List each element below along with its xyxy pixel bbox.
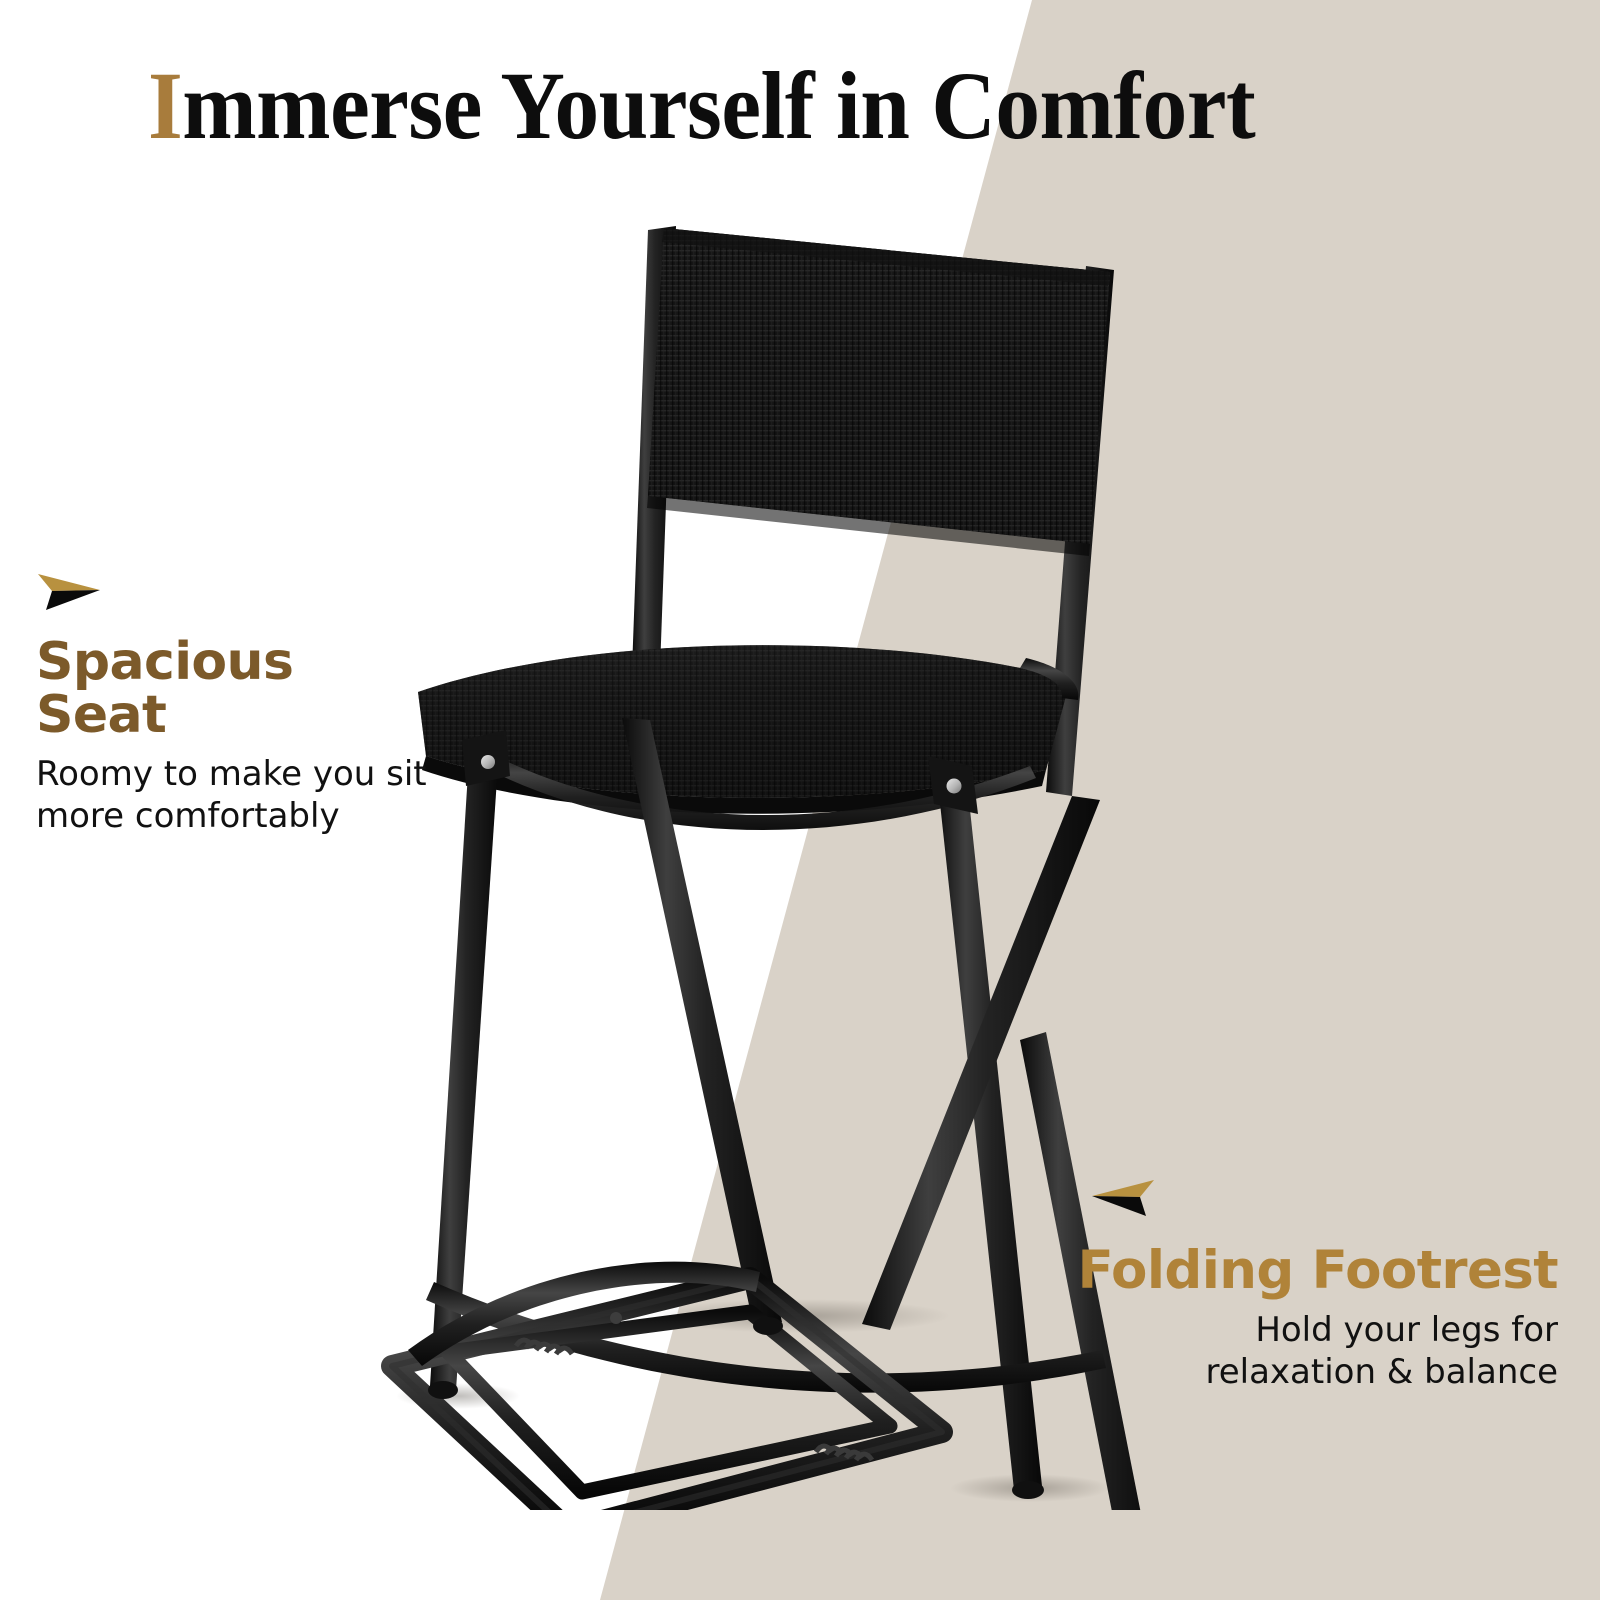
pivot-rivet-left bbox=[481, 755, 495, 769]
foot-cap-front-right bbox=[1012, 1481, 1044, 1499]
feature-callout-spacious-seat: Spacious Seat Roomy to make you sit more… bbox=[36, 566, 427, 837]
product-feature-banner: Immerse Yourself in Comfort bbox=[0, 0, 1600, 1600]
page-title: Immerse Yourself in Comfort bbox=[148, 58, 1255, 154]
feature-title: Folding Footrest bbox=[1078, 1244, 1558, 1298]
foot-cap-rear-left bbox=[753, 1317, 783, 1335]
pivot-rivet-right bbox=[947, 779, 962, 794]
feature-body: Hold your legs for relaxation & balance bbox=[1078, 1310, 1558, 1393]
headline-initial: I bbox=[148, 52, 182, 159]
foot-cap-front-left bbox=[428, 1381, 458, 1399]
feature-body: Roomy to make you sit more comfortably bbox=[36, 754, 427, 837]
arrow-container bbox=[1078, 1172, 1558, 1218]
feature-callout-folding-footrest: Folding Footrest Hold your legs for rela… bbox=[1078, 1172, 1558, 1393]
arrow-right-icon bbox=[36, 566, 102, 612]
footrest-rivet bbox=[610, 1312, 622, 1324]
feature-title: Spacious Seat bbox=[36, 636, 427, 742]
headline-rest: mmerse Yourself in Comfort bbox=[182, 52, 1255, 159]
backrest-mesh-panel bbox=[647, 228, 1110, 556]
arrow-left-icon bbox=[1090, 1172, 1156, 1218]
